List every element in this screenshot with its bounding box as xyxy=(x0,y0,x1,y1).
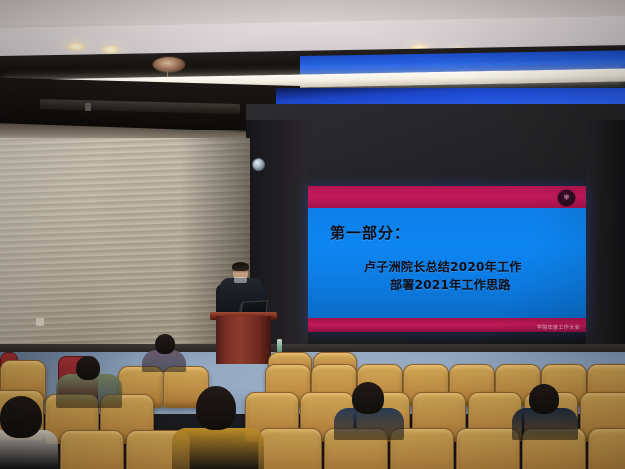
slide-line-2: 部署2021年工作思路 xyxy=(390,276,511,293)
attendee-yellow-coat-torso xyxy=(172,428,264,469)
ceiling-disc-fixture-icon xyxy=(152,56,186,73)
slide-footer-text: 学院年度工作大会 xyxy=(537,324,580,331)
speaker-hair xyxy=(232,262,249,271)
presentation-screen[interactable]: ✾ 第一部分： 卢子洲院长总结2020年工作 部署2021年工作思路 学院年度工… xyxy=(308,186,586,332)
slide-footer-band: 学院年度工作大会 xyxy=(308,318,586,332)
institution-logo-icon: ✾ xyxy=(557,189,576,207)
slide-title: 第一部分： xyxy=(330,222,410,243)
auditorium-seat xyxy=(60,430,124,469)
auditorium-seat xyxy=(258,428,322,469)
logo-glyph: ✾ xyxy=(564,195,570,202)
dark-wall-right-column xyxy=(586,120,625,356)
attendee-front-left-head xyxy=(0,396,42,438)
spotlight-icon xyxy=(101,45,120,54)
attendee-navy-right-head xyxy=(529,384,559,414)
slide-line-1: 卢子洲院长总结2020年工作 xyxy=(364,258,522,275)
attendee-olive-jacket-head xyxy=(76,356,100,380)
attendee-navy-center-head xyxy=(352,382,384,414)
auditorium-seat xyxy=(588,428,625,469)
wall-outlet-icon xyxy=(36,318,44,326)
attendee-plaid-head xyxy=(155,334,175,354)
speaker-collar xyxy=(234,277,247,283)
slide-body: 第一部分： 卢子洲院长总结2020年工作 部署2021年工作思路 xyxy=(308,208,586,318)
slide-header-band: ✾ xyxy=(308,186,586,208)
auditorium-seat xyxy=(456,428,520,469)
conference-hall-photo: ✾ 第一部分： 卢子洲院长总结2020年工作 部署2021年工作思路 学院年度工… xyxy=(0,0,625,469)
wall-sensor-icon xyxy=(252,158,265,171)
attendee-yellow-coat-head xyxy=(196,386,236,430)
ceiling-projector-mount xyxy=(85,103,91,111)
spotlight-icon xyxy=(66,42,86,51)
water-bottle-icon xyxy=(277,339,282,353)
lectern xyxy=(216,316,271,364)
